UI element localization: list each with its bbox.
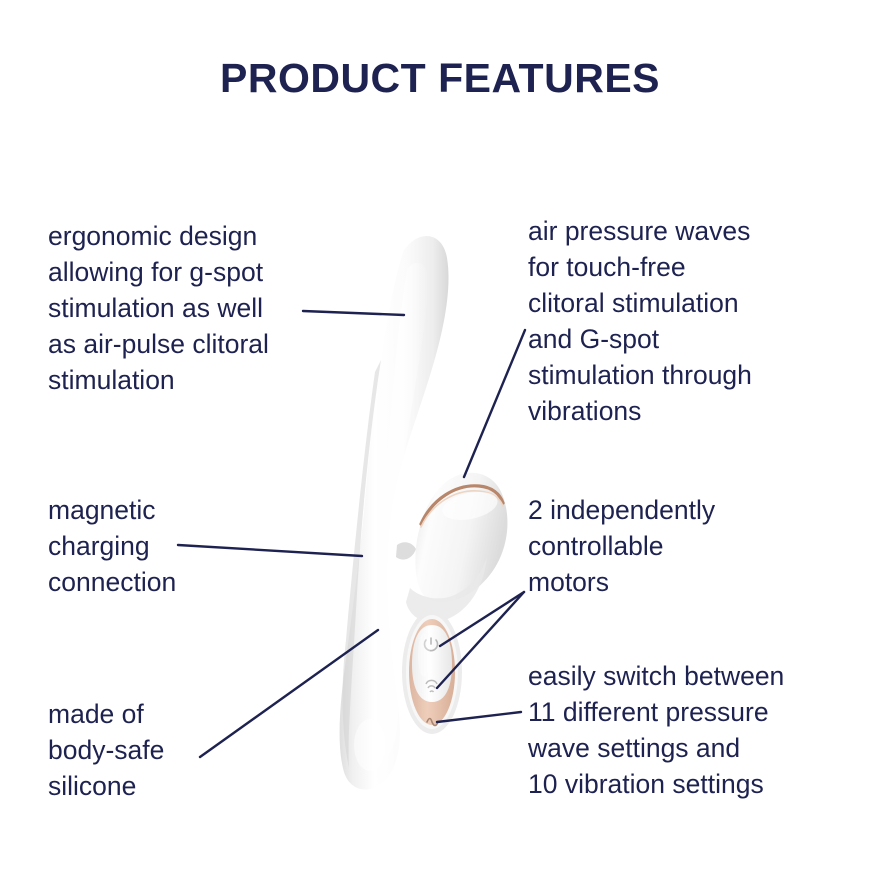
product-control-panel	[402, 610, 462, 734]
product-features-infographic: PRODUCT FEATURES	[0, 0, 880, 880]
feature-air-pressure-waves: air pressure waves for touch-free clitor…	[528, 213, 848, 429]
feature-settings-count: easily switch between 11 different press…	[528, 658, 858, 802]
feature-body-safe-silicone: made of body-safe silicone	[48, 696, 308, 804]
feature-magnetic-charging: magnetic charging connection	[48, 492, 308, 600]
product-clitoral-arm	[396, 473, 507, 622]
feature-two-motors: 2 independently controllable motors	[528, 492, 848, 600]
feature-ergonomic-design: ergonomic design allowing for g-spot sti…	[48, 218, 348, 398]
